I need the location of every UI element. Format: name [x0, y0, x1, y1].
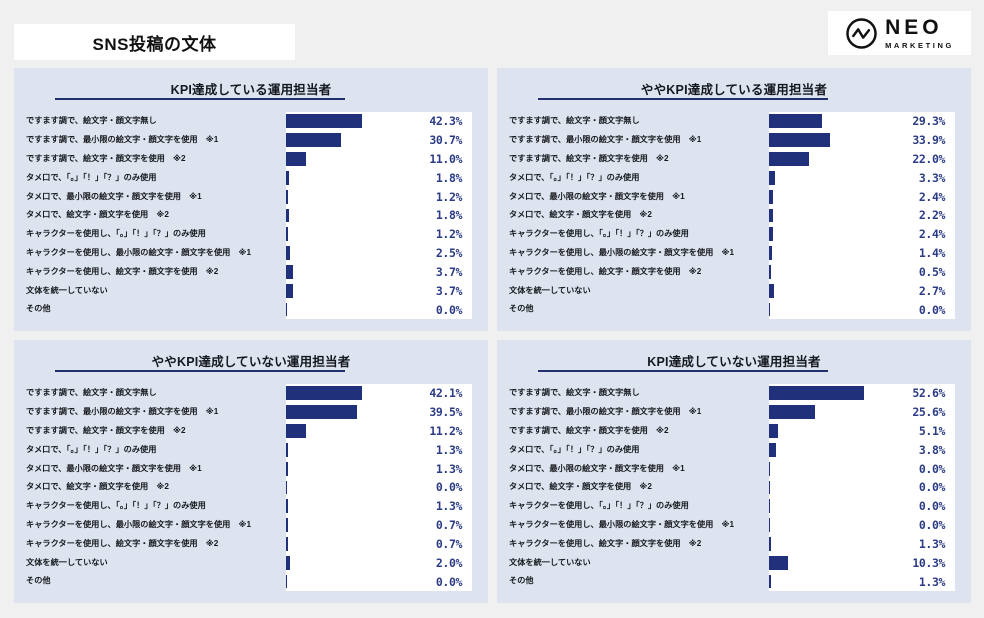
bar-track	[286, 384, 394, 403]
value-label: 1.3%	[394, 462, 462, 476]
category-label: 文体を統一していない	[26, 287, 284, 295]
category-label: キャラクターを使用し、最小限の絵文字・顔文字を使用 ※1	[509, 249, 767, 257]
value-label: 25.6%	[877, 405, 945, 419]
page-title: SNS投稿の文体	[93, 30, 217, 55]
bar-track	[769, 459, 877, 478]
category-label: タメ口で、「。」「！」「？」のみ使用	[26, 174, 284, 182]
bar-track	[286, 516, 394, 535]
bar-row: キャラクターを使用し、「。」「！」「？」のみ使用2.4%	[497, 225, 971, 244]
category-label: ですます調で、絵文字・顔文字を使用 ※2	[509, 427, 767, 435]
bar-track	[769, 112, 877, 131]
value-label: 22.0%	[877, 152, 945, 166]
category-label: 文体を統一していない	[26, 559, 284, 567]
value-label: 52.6%	[877, 386, 945, 400]
chart-panel-3: ややKPI達成していない運用担当者ですます調で、絵文字・顔文字無し42.1%です…	[14, 340, 488, 603]
value-label: 1.2%	[394, 227, 462, 241]
bar-row: 文体を統一していない3.7%	[14, 281, 488, 300]
category-label: タメ口で、「。」「！」「？」のみ使用	[509, 446, 767, 454]
bar-row: タメ口で、最小限の絵文字・顔文字を使用 ※11.2%	[14, 187, 488, 206]
value-label: 3.7%	[394, 284, 462, 298]
bar-track	[286, 168, 394, 187]
bar	[769, 246, 772, 260]
logo-name: NEO	[885, 17, 954, 38]
category-label: タメ口で、最小限の絵文字・顔文字を使用 ※1	[509, 465, 767, 473]
value-label: 11.2%	[394, 424, 462, 438]
bar-track	[769, 168, 877, 187]
bar	[769, 499, 770, 513]
bar-track	[769, 263, 877, 282]
bar-row: キャラクターを使用し、「。」「！」「？」のみ使用1.3%	[14, 497, 488, 516]
category-label: キャラクターを使用し、絵文字・顔文字を使用 ※2	[509, 268, 767, 276]
category-label: その他	[26, 577, 284, 585]
page-title-box: SNS投稿の文体	[14, 24, 295, 60]
bar-row: キャラクターを使用し、絵文字・顔文字を使用 ※23.7%	[14, 263, 488, 282]
value-label: 2.4%	[877, 190, 945, 204]
bar-track	[286, 422, 394, 441]
bar	[769, 209, 773, 223]
bar-track	[769, 187, 877, 206]
bar-row: その他0.0%	[14, 300, 488, 319]
bar	[769, 405, 815, 419]
bar-track	[286, 553, 394, 572]
bar-row: ですます調で、絵文字・顔文字を使用 ※222.0%	[497, 150, 971, 169]
category-label: 文体を統一していない	[509, 287, 767, 295]
category-label: キャラクターを使用し、「。」「！」「？」のみ使用	[26, 230, 284, 238]
bar	[769, 443, 776, 457]
bar	[769, 265, 771, 279]
value-label: 1.3%	[877, 575, 945, 589]
value-label: 2.7%	[877, 284, 945, 298]
bar-track	[769, 478, 877, 497]
category-label: ですます調で、絵文字・顔文字無し	[509, 117, 767, 125]
bar	[286, 209, 289, 223]
bar	[769, 424, 778, 438]
panel-title-underline	[538, 98, 828, 100]
value-label: 1.3%	[877, 537, 945, 551]
bar-track	[286, 440, 394, 459]
bar	[769, 575, 771, 589]
bar	[769, 386, 864, 400]
bar-track	[286, 263, 394, 282]
bar-row: タメ口で、「。」「！」「？」のみ使用3.8%	[497, 440, 971, 459]
bar-track	[769, 572, 877, 591]
bar-track	[769, 422, 877, 441]
chart-panel-1: KPI達成している運用担当者ですます調で、絵文字・顔文字無し42.3%ですます調…	[14, 68, 488, 331]
panel-title-underline	[55, 98, 345, 100]
value-label: 0.0%	[877, 480, 945, 494]
bar	[769, 303, 770, 317]
value-label: 10.3%	[877, 556, 945, 570]
bar	[769, 481, 770, 495]
bar-row: キャラクターを使用し、「。」「！」「？」のみ使用0.0%	[497, 497, 971, 516]
bar-row: タメ口で、「。」「！」「？」のみ使用1.3%	[14, 440, 488, 459]
bar-track	[286, 244, 394, 263]
bar-rows: ですます調で、絵文字・顔文字無し52.6%ですます調で、最小限の絵文字・顔文字を…	[497, 384, 971, 591]
value-label: 33.9%	[877, 133, 945, 147]
bar	[286, 227, 288, 241]
bar	[769, 114, 822, 128]
bar-row: 文体を統一していない2.0%	[14, 553, 488, 572]
bar	[286, 265, 293, 279]
bar	[286, 424, 306, 438]
category-label: その他	[509, 305, 767, 313]
bar-track	[769, 206, 877, 225]
category-label: 文体を統一していない	[509, 559, 767, 567]
value-label: 0.0%	[877, 499, 945, 513]
value-label: 0.7%	[394, 537, 462, 551]
category-label: キャラクターを使用し、絵文字・顔文字を使用 ※2	[26, 540, 284, 548]
bar	[769, 284, 774, 298]
value-label: 0.5%	[877, 265, 945, 279]
category-label: キャラクターを使用し、絵文字・顔文字を使用 ※2	[509, 540, 767, 548]
value-label: 1.8%	[394, 171, 462, 185]
bar-row: キャラクターを使用し、絵文字・顔文字を使用 ※20.5%	[497, 263, 971, 282]
bar-row: タメ口で、最小限の絵文字・顔文字を使用 ※10.0%	[497, 459, 971, 478]
bar-row: ですます調で、最小限の絵文字・顔文字を使用 ※130.7%	[14, 131, 488, 150]
bar-track	[769, 225, 877, 244]
category-label: ですます調で、絵文字・顔文字無し	[26, 389, 284, 397]
chart-panel-grid: KPI達成している運用担当者ですます調で、絵文字・顔文字無し42.3%ですます調…	[14, 68, 971, 605]
bar	[769, 227, 773, 241]
category-label: タメ口で、絵文字・顔文字を使用 ※2	[26, 211, 284, 219]
value-label: 0.0%	[394, 575, 462, 589]
category-label: ですます調で、絵文字・顔文字を使用 ※2	[26, 155, 284, 163]
bar-row: キャラクターを使用し、最小限の絵文字・顔文字を使用 ※12.5%	[14, 244, 488, 263]
category-label: ですます調で、絵文字・顔文字無し	[509, 389, 767, 397]
value-label: 42.3%	[394, 114, 462, 128]
bar-row: タメ口で、絵文字・顔文字を使用 ※22.2%	[497, 206, 971, 225]
bar	[286, 386, 362, 400]
bar-track	[286, 403, 394, 422]
chart-panel-2: ややKPI達成している運用担当者ですます調で、絵文字・顔文字無し29.3%ですま…	[497, 68, 971, 331]
bar-track	[286, 131, 394, 150]
category-label: キャラクターを使用し、最小限の絵文字・顔文字を使用 ※1	[509, 521, 767, 529]
bar	[769, 556, 788, 570]
value-label: 29.3%	[877, 114, 945, 128]
bar-row: タメ口で、絵文字・顔文字を使用 ※21.8%	[14, 206, 488, 225]
value-label: 2.5%	[394, 246, 462, 260]
value-label: 1.8%	[394, 208, 462, 222]
category-label: キャラクターを使用し、最小限の絵文字・顔文字を使用 ※1	[26, 521, 284, 529]
category-label: タメ口で、「。」「！」「？」のみ使用	[509, 174, 767, 182]
bar	[286, 462, 288, 476]
value-label: 30.7%	[394, 133, 462, 147]
bar-row: キャラクターを使用し、「。」「！」「？」のみ使用1.2%	[14, 225, 488, 244]
value-label: 0.0%	[877, 462, 945, 476]
bar	[286, 537, 288, 551]
bar	[286, 518, 288, 532]
value-label: 39.5%	[394, 405, 462, 419]
bar-row: ですます調で、絵文字・顔文字無し52.6%	[497, 384, 971, 403]
bar-track	[769, 150, 877, 169]
bar	[286, 284, 293, 298]
value-label: 0.0%	[877, 303, 945, 317]
value-label: 3.3%	[877, 171, 945, 185]
bar-track	[286, 281, 394, 300]
bar-track	[286, 112, 394, 131]
bar-rows: ですます調で、絵文字・顔文字無し42.1%ですます調で、最小限の絵文字・顔文字を…	[14, 384, 488, 591]
bar-rows: ですます調で、絵文字・顔文字無し42.3%ですます調で、最小限の絵文字・顔文字を…	[14, 112, 488, 319]
bar-track	[769, 384, 877, 403]
circle-waveform-icon	[845, 17, 878, 50]
bar-track	[769, 516, 877, 535]
bar-row: タメ口で、絵文字・顔文字を使用 ※20.0%	[497, 478, 971, 497]
bar-row: ですます調で、絵文字・顔文字無し42.3%	[14, 112, 488, 131]
value-label: 0.0%	[394, 303, 462, 317]
bar-track	[769, 497, 877, 516]
bar-row: 文体を統一していない2.7%	[497, 281, 971, 300]
category-label: キャラクターを使用し、「。」「！」「？」のみ使用	[509, 502, 767, 510]
bar-row: 文体を統一していない10.3%	[497, 553, 971, 572]
bar	[286, 556, 290, 570]
bar-row: タメ口で、最小限の絵文字・顔文字を使用 ※11.3%	[14, 459, 488, 478]
bar-row: ですます調で、最小限の絵文字・顔文字を使用 ※133.9%	[497, 131, 971, 150]
bar-row: タメ口で、絵文字・顔文字を使用 ※20.0%	[14, 478, 488, 497]
bar-row: ですます調で、最小限の絵文字・顔文字を使用 ※125.6%	[497, 403, 971, 422]
category-label: その他	[509, 577, 767, 585]
category-label: キャラクターを使用し、最小限の絵文字・顔文字を使用 ※1	[26, 249, 284, 257]
bar	[286, 443, 288, 457]
bar	[769, 518, 770, 532]
neo-marketing-logo: NEO MARKETING	[828, 11, 971, 55]
bar-track	[769, 300, 877, 319]
value-label: 1.2%	[394, 190, 462, 204]
bar-track	[769, 553, 877, 572]
bar-row: その他0.0%	[497, 300, 971, 319]
category-label: タメ口で、最小限の絵文字・顔文字を使用 ※1	[26, 193, 284, 201]
category-label: ですます調で、最小限の絵文字・顔文字を使用 ※1	[509, 136, 767, 144]
bar	[769, 190, 773, 204]
category-label: ですます調で、最小限の絵文字・顔文字を使用 ※1	[26, 136, 284, 144]
bar-track	[286, 206, 394, 225]
bar-rows: ですます調で、絵文字・顔文字無し29.3%ですます調で、最小限の絵文字・顔文字を…	[497, 112, 971, 319]
category-label: ですます調で、絵文字・顔文字を使用 ※2	[26, 427, 284, 435]
bar	[286, 575, 287, 589]
category-label: ですます調で、絵文字・顔文字無し	[26, 117, 284, 125]
bar	[286, 303, 287, 317]
bar-track	[769, 440, 877, 459]
category-label: ですます調で、最小限の絵文字・顔文字を使用 ※1	[509, 408, 767, 416]
bar	[286, 133, 341, 147]
bar-track	[286, 535, 394, 554]
value-label: 0.0%	[877, 518, 945, 532]
bar	[286, 481, 287, 495]
bar-row: キャラクターを使用し、絵文字・顔文字を使用 ※20.7%	[14, 535, 488, 554]
value-label: 0.7%	[394, 518, 462, 532]
bar	[286, 171, 289, 185]
bar-track	[769, 403, 877, 422]
bar	[769, 152, 809, 166]
category-label: タメ口で、絵文字・顔文字を使用 ※2	[509, 483, 767, 491]
value-label: 3.7%	[394, 265, 462, 279]
category-label: タメ口で、絵文字・顔文字を使用 ※2	[509, 211, 767, 219]
bar-row: ですます調で、絵文字・顔文字を使用 ※211.0%	[14, 150, 488, 169]
bar-row: ですます調で、絵文字・顔文字無し29.3%	[497, 112, 971, 131]
bar-track	[769, 281, 877, 300]
category-label: タメ口で、最小限の絵文字・顔文字を使用 ※1	[26, 465, 284, 473]
chart-panel-4: KPI達成していない運用担当者ですます調で、絵文字・顔文字無し52.6%ですます…	[497, 340, 971, 603]
bar	[286, 152, 306, 166]
bar-track	[286, 150, 394, 169]
bar-track	[286, 225, 394, 244]
bar-row: キャラクターを使用し、絵文字・顔文字を使用 ※21.3%	[497, 535, 971, 554]
value-label: 1.3%	[394, 443, 462, 457]
bar-row: ですます調で、絵文字・顔文字を使用 ※211.2%	[14, 422, 488, 441]
bar	[286, 246, 290, 260]
logo-tagline: MARKETING	[885, 42, 954, 50]
bar-row: ですます調で、最小限の絵文字・顔文字を使用 ※139.5%	[14, 403, 488, 422]
category-label: タメ口で、「。」「！」「？」のみ使用	[26, 446, 284, 454]
value-label: 0.0%	[394, 480, 462, 494]
bar-row: ですます調で、絵文字・顔文字無し42.1%	[14, 384, 488, 403]
value-label: 5.1%	[877, 424, 945, 438]
bar-row: ですます調で、絵文字・顔文字を使用 ※25.1%	[497, 422, 971, 441]
value-label: 1.3%	[394, 499, 462, 513]
category-label: ですます調で、最小限の絵文字・顔文字を使用 ※1	[26, 408, 284, 416]
bar-track	[769, 535, 877, 554]
panel-title-underline	[538, 370, 828, 372]
bar-row: キャラクターを使用し、最小限の絵文字・顔文字を使用 ※10.0%	[497, 516, 971, 535]
bar-row: その他1.3%	[497, 572, 971, 591]
bar-track	[286, 459, 394, 478]
bar-track	[286, 572, 394, 591]
bar	[769, 537, 771, 551]
category-label: ですます調で、絵文字・顔文字を使用 ※2	[509, 155, 767, 163]
bar-track	[286, 187, 394, 206]
bar-track	[286, 497, 394, 516]
bar	[286, 499, 288, 513]
value-label: 1.4%	[877, 246, 945, 260]
bar-row: タメ口で、「。」「！」「？」のみ使用1.8%	[14, 168, 488, 187]
bar-track	[286, 300, 394, 319]
bar	[769, 171, 775, 185]
value-label: 3.8%	[877, 443, 945, 457]
value-label: 2.2%	[877, 208, 945, 222]
value-label: 2.0%	[394, 556, 462, 570]
bar-row: その他0.0%	[14, 572, 488, 591]
bar-row: キャラクターを使用し、最小限の絵文字・顔文字を使用 ※10.7%	[14, 516, 488, 535]
value-label: 42.1%	[394, 386, 462, 400]
category-label: キャラクターを使用し、「。」「！」「？」のみ使用	[26, 502, 284, 510]
category-label: タメ口で、最小限の絵文字・顔文字を使用 ※1	[509, 193, 767, 201]
bar	[286, 114, 362, 128]
bar-row: タメ口で、最小限の絵文字・顔文字を使用 ※12.4%	[497, 187, 971, 206]
page-header: SNS投稿の文体 NEO MARKETING	[0, 0, 984, 66]
category-label: キャラクターを使用し、絵文字・顔文字を使用 ※2	[26, 268, 284, 276]
logo-wordmark: NEO MARKETING	[885, 17, 954, 50]
panel-title-underline	[55, 370, 345, 372]
category-label: タメ口で、絵文字・顔文字を使用 ※2	[26, 483, 284, 491]
bar-row: キャラクターを使用し、最小限の絵文字・顔文字を使用 ※11.4%	[497, 244, 971, 263]
bar	[769, 462, 770, 476]
value-label: 2.4%	[877, 227, 945, 241]
value-label: 11.0%	[394, 152, 462, 166]
bar-track	[286, 478, 394, 497]
category-label: その他	[26, 305, 284, 313]
bar	[286, 190, 288, 204]
bar	[769, 133, 830, 147]
bar-row: タメ口で、「。」「！」「？」のみ使用3.3%	[497, 168, 971, 187]
bar-track	[769, 244, 877, 263]
category-label: キャラクターを使用し、「。」「！」「？」のみ使用	[509, 230, 767, 238]
bar	[286, 405, 357, 419]
bar-track	[769, 131, 877, 150]
